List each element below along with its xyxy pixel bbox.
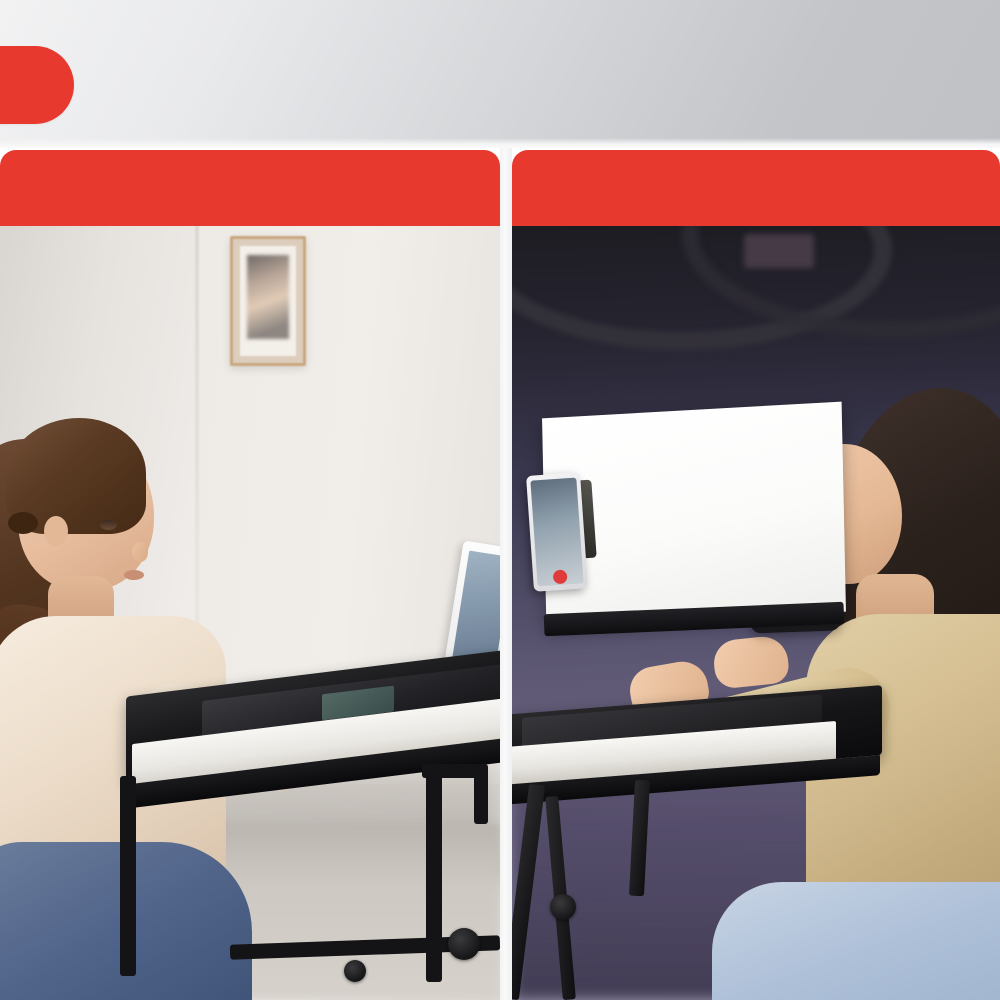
stage-backdrop-sign xyxy=(744,234,814,268)
z-stand-leg-right xyxy=(629,780,650,897)
wall-picture-frame xyxy=(230,236,306,366)
keyboard-live-performance xyxy=(512,700,902,1000)
pyle-logo-knob-lower xyxy=(344,960,366,982)
marketing-infographic xyxy=(0,0,1000,1000)
picture-artwork xyxy=(247,255,289,339)
girl-eye xyxy=(100,520,117,530)
stand-leg-left xyxy=(120,776,136,976)
girl-ear xyxy=(44,516,68,546)
z-stand-leg-front xyxy=(512,784,545,1000)
banner-live-performances xyxy=(512,150,1000,226)
photo-live-performances xyxy=(512,224,1000,1000)
girl-nose xyxy=(132,542,148,562)
girl-lips xyxy=(124,570,144,580)
versatile-badge xyxy=(0,46,74,124)
music-stand-assembly xyxy=(534,410,864,710)
panel-home-studio xyxy=(0,150,500,1000)
pyle-logo-knob-upper xyxy=(448,928,480,960)
photo-home-studio xyxy=(0,224,500,1000)
smartphone-video-call xyxy=(526,472,588,591)
girl-hair-tie xyxy=(8,512,38,534)
header-band xyxy=(0,0,1000,148)
panel-divider xyxy=(500,148,512,1000)
banner-home-studio xyxy=(0,150,500,226)
panel-live-performances xyxy=(512,150,1000,1000)
keyboard-home-studio xyxy=(126,672,500,1000)
pyle-logo-knob xyxy=(550,894,576,920)
stand-support-hook xyxy=(474,768,488,824)
